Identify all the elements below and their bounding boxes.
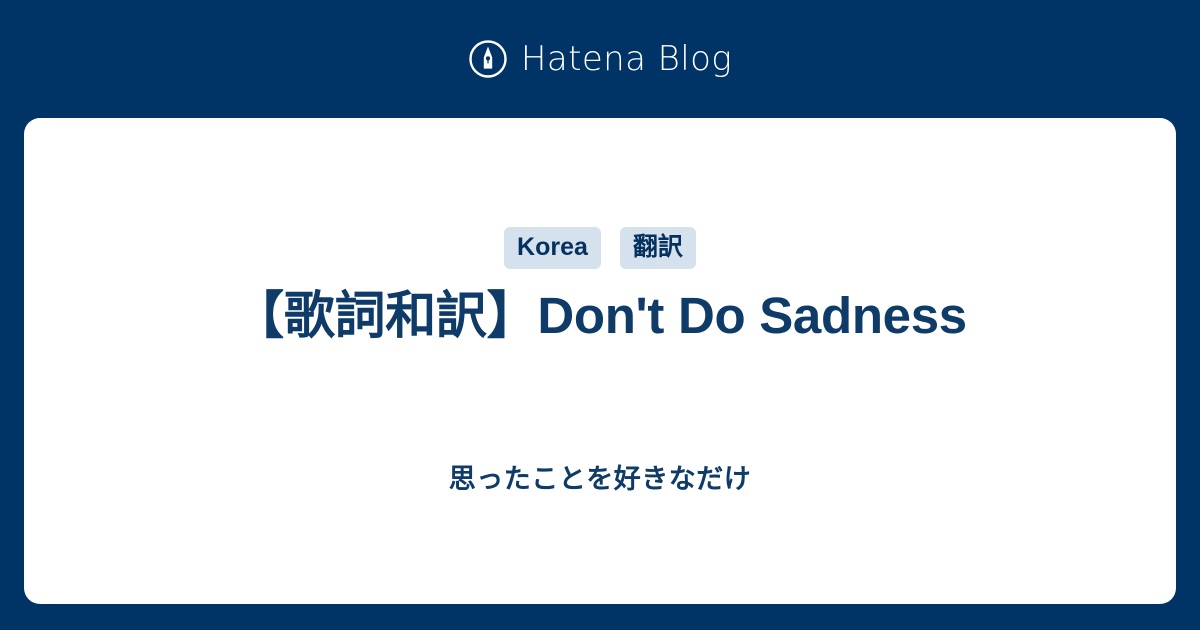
tag-item[interactable]: 翻訳	[620, 227, 696, 269]
entry-card-inner: Korea 翻訳 【歌詞和訳】Don't Do Sadness 思ったことを好き…	[72, 227, 1128, 496]
blog-name: 思ったことを好きなだけ	[449, 463, 752, 495]
entry-card: Korea 翻訳 【歌詞和訳】Don't Do Sadness 思ったことを好き…	[24, 118, 1176, 604]
entry-title: 【歌詞和訳】Don't Do Sadness	[233, 286, 967, 345]
tag-list: Korea 翻訳	[504, 227, 696, 269]
fountain-pen-nib-circle-icon	[468, 39, 508, 79]
tag-item[interactable]: Korea	[504, 227, 601, 269]
brand-header: Hatena Blog	[0, 0, 1200, 118]
ogp-card-root: Hatena Blog Korea 翻訳 【歌詞和訳】Don't Do Sadn…	[0, 0, 1200, 630]
brand-name: Hatena Blog	[521, 42, 732, 76]
